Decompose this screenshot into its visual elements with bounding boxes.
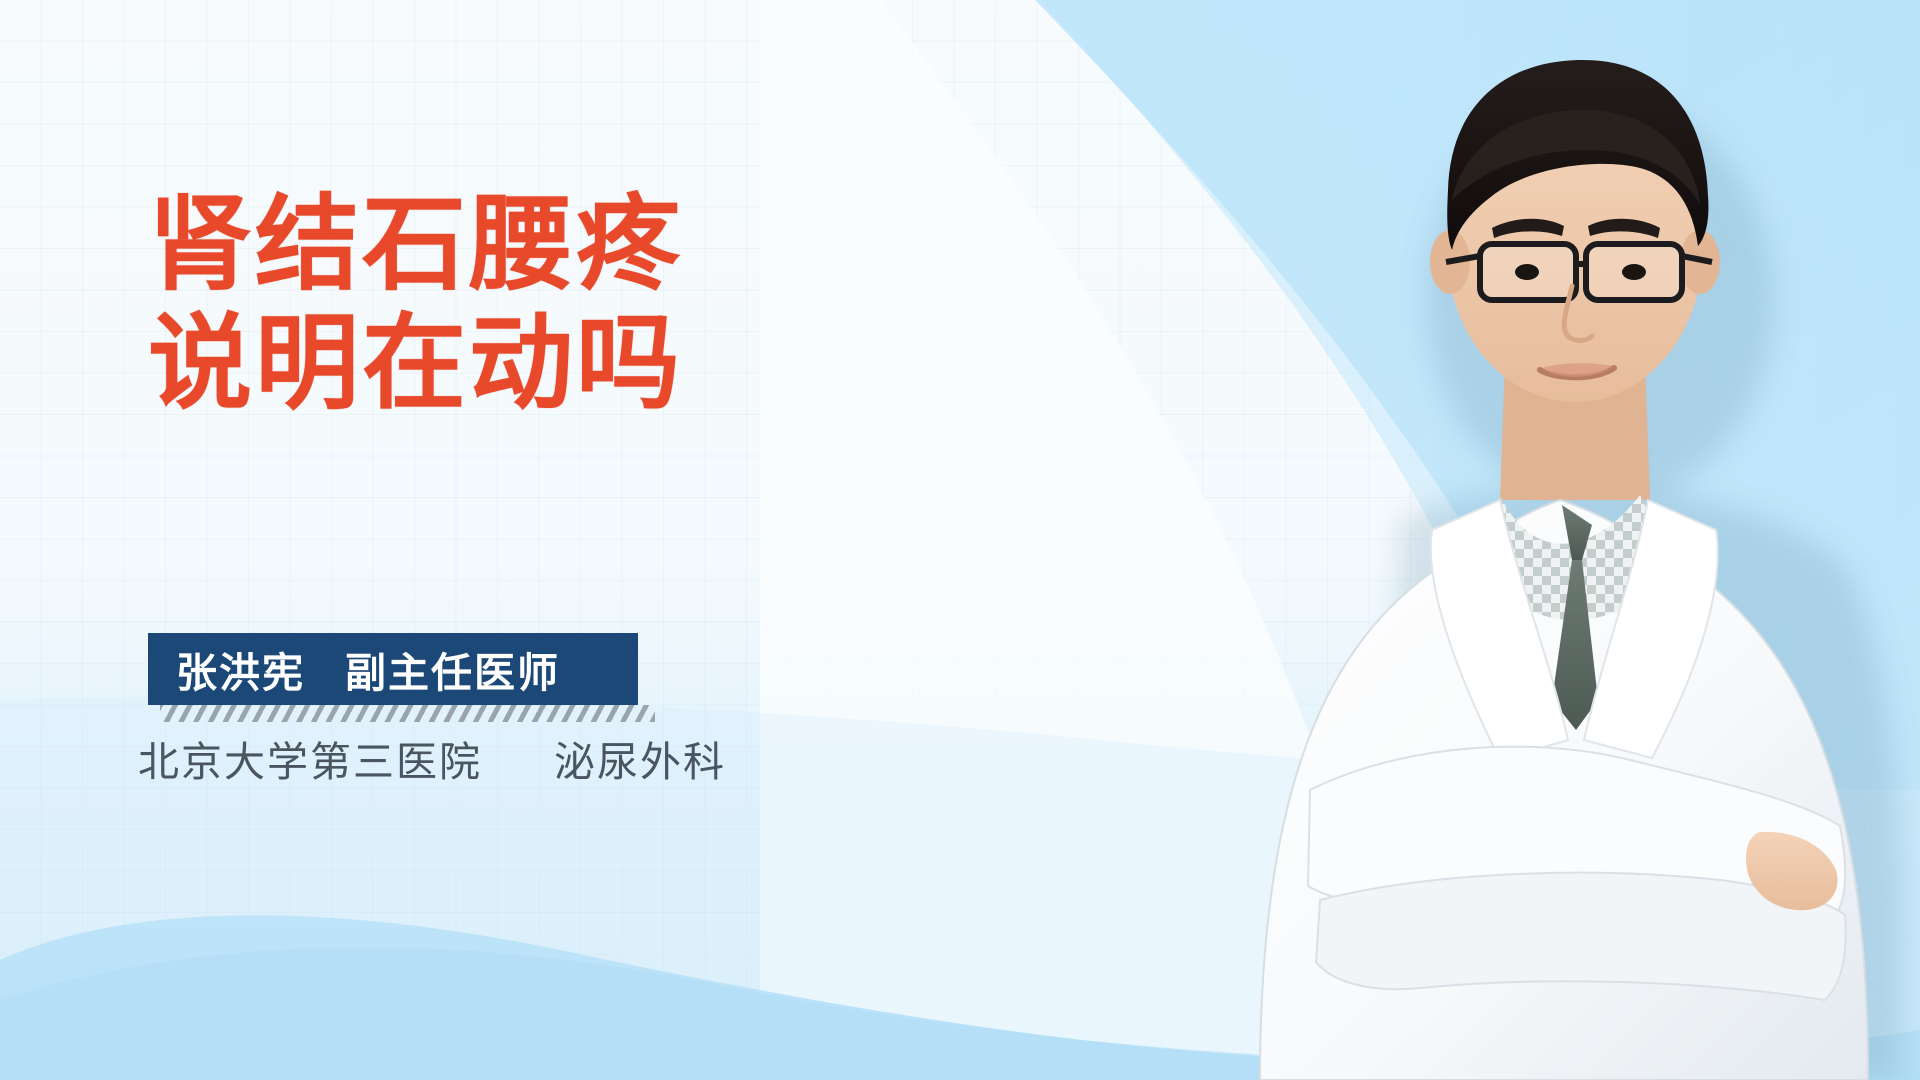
doctor-affiliation: 北京大学第三医院 泌尿外科 [138,728,726,788]
badge-bar: 张洪宪 副主任医师 [148,633,638,705]
title-block: 肾结石腰疼 说明在动吗 [148,186,683,424]
title-line-2: 说明在动吗 [148,305,683,424]
doctor-name: 张洪宪 [176,639,305,699]
title-line-1: 肾结石腰疼 [148,186,683,305]
background-waves [0,0,1920,1080]
doctor-name-badge: 张洪宪 副主任医师 [148,633,655,722]
doctor-rank: 副主任医师 [345,639,560,699]
hospital-name: 北京大学第三医院 [138,728,482,788]
thumbnail-card: 肾结石腰疼 说明在动吗 张洪宪 副主任医师 北京大学第三医院 泌尿外科 [0,0,1920,1080]
badge-stripe-decoration [160,705,655,722]
department-name: 泌尿外科 [554,728,726,788]
